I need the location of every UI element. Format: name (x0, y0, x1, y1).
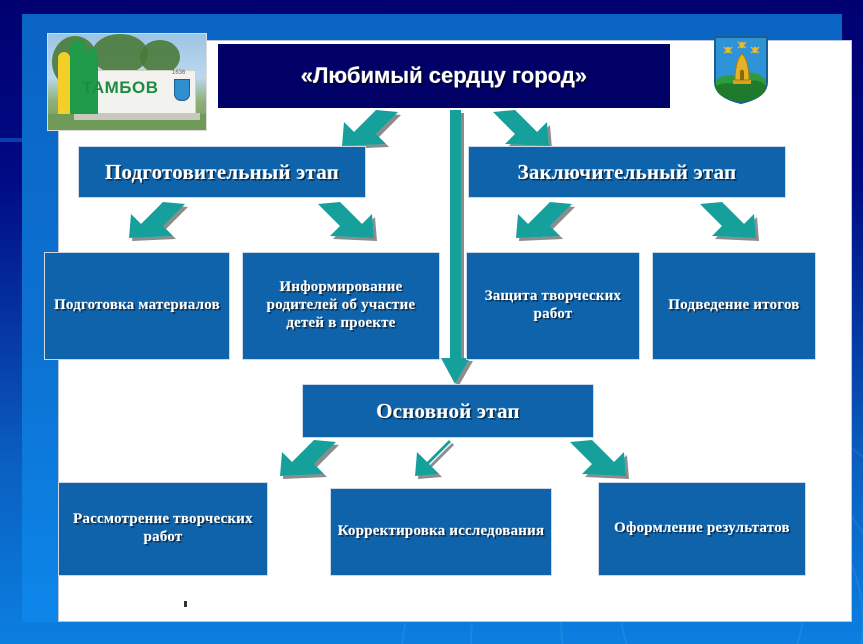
leaf-box-correction[interactable]: Корректировка исследования (330, 488, 552, 576)
leaf-label-parents: Информирование родителей об участие дете… (243, 279, 439, 332)
tambov-city-sign-photo: ТАМБОВ 1636 (47, 33, 207, 131)
city-sign-shield-icon (174, 79, 190, 101)
tambov-coat-of-arms (714, 36, 768, 104)
leaf-box-results[interactable]: Подведение итогов (652, 252, 816, 360)
leaf-box-defense[interactable]: Защита творческих работ (466, 252, 640, 360)
leaf-label-review: Рассмотрение творческих работ (59, 511, 267, 546)
slide-canvas: ТАМБОВ 1636 «Любимый сердцу город» (0, 0, 863, 644)
city-sign-text: ТАМБОВ (82, 78, 168, 98)
leaf-label-results: Подведение итогов (662, 297, 805, 315)
leaf-label-materials: Подготовка материалов (48, 297, 226, 315)
stage-label-preparatory: Подготовительный этап (99, 160, 345, 185)
trailing-period (184, 601, 187, 607)
stage-box-main[interactable]: Основной этап (302, 384, 594, 438)
stage-label-main: Основной этап (370, 399, 526, 424)
slide-title: «Любимый сердцу город» (218, 44, 670, 108)
stage-label-final: Заключительный этап (512, 160, 743, 185)
leaf-label-defense: Защита творческих работ (467, 288, 639, 323)
stage-box-final[interactable]: Заключительный этап (468, 146, 786, 198)
leaf-box-materials[interactable]: Подготовка материалов (44, 252, 230, 360)
stage-box-preparatory[interactable]: Подготовительный этап (78, 146, 366, 198)
leaf-label-correction: Корректировка исследования (332, 523, 551, 541)
city-sign-year: 1636 (172, 70, 185, 76)
leaf-box-design[interactable]: Оформление результатов (598, 482, 806, 576)
leaf-box-parents[interactable]: Информирование родителей об участие дете… (242, 252, 440, 360)
leaf-box-review[interactable]: Рассмотрение творческих работ (58, 482, 268, 576)
leaf-label-design: Оформление результатов (608, 520, 796, 538)
